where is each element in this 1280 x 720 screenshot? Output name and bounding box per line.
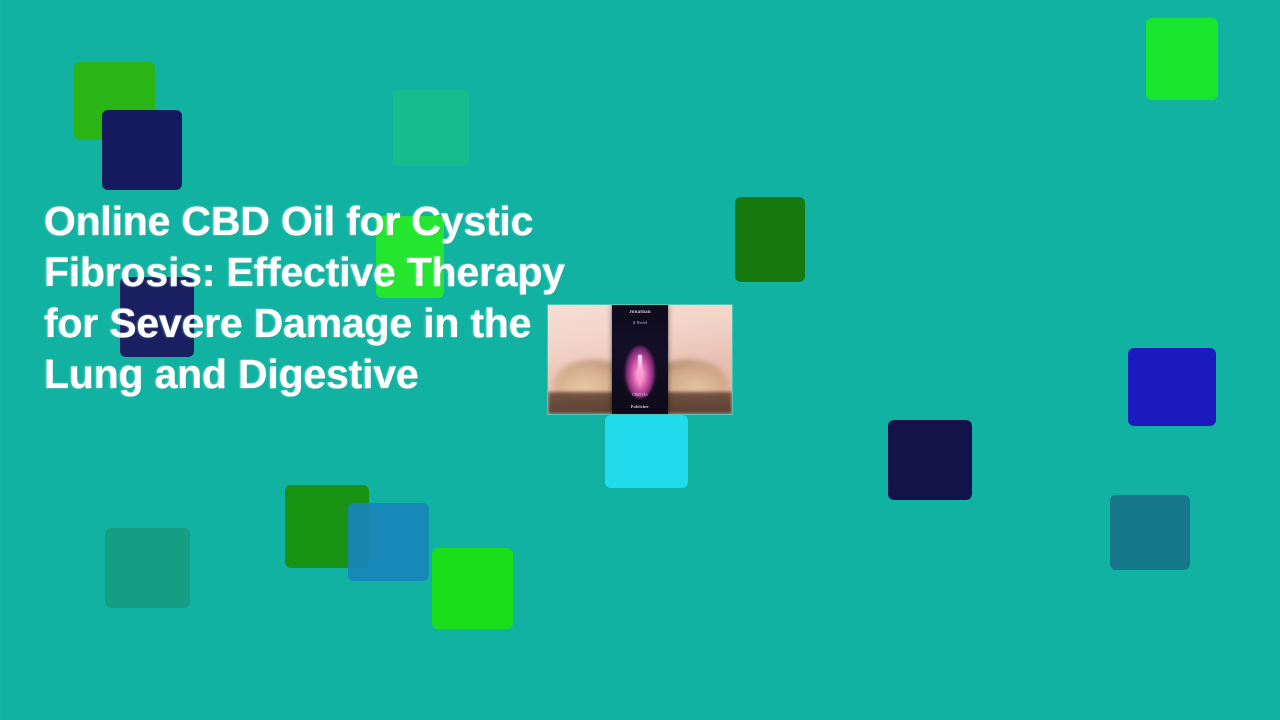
cover-publisher-text: Publisher [614, 404, 666, 409]
square-brightgreen-topright [1146, 18, 1218, 100]
cover-author-text: Jonathan [614, 310, 666, 315]
square-green-faint-top [393, 90, 469, 166]
square-brightgreen-lower [432, 548, 513, 629]
square-teal-left [105, 528, 190, 608]
book-cover-thumbnail[interactable]: Jonathan A Novel CBD Oil Publisher [548, 305, 732, 414]
page-title-line: Online CBD Oil for Cystic [44, 196, 644, 247]
square-steelblue-lower [348, 503, 429, 581]
cover-subtitle-text: A Novel [614, 320, 666, 325]
square-teal-right [1110, 495, 1190, 570]
square-darkgreen-upper [735, 197, 805, 282]
cover-title-text: CBD Oil [614, 392, 666, 397]
square-navy-centerright [888, 420, 972, 500]
square-blue-right [1128, 348, 1216, 426]
square-cyan-center [605, 415, 688, 488]
page-title-line: Fibrosis: Effective Therapy [44, 247, 644, 298]
square-navy-topleft [102, 110, 182, 190]
cover-spine: Jonathan A Novel CBD Oil Publisher [612, 305, 668, 414]
promo-canvas: Online CBD Oil for CysticFibrosis: Effec… [0, 0, 1280, 720]
cover-beam [638, 355, 642, 389]
